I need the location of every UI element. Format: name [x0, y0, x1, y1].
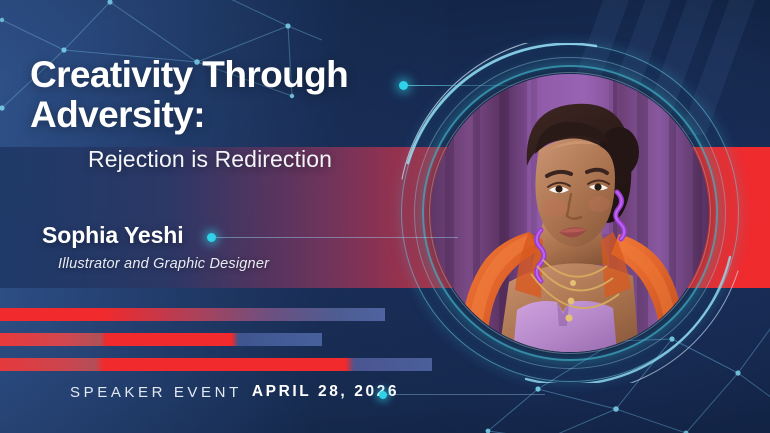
speaker-event-poster: Creativity Through Adversity: Rejection … — [0, 0, 770, 433]
cyan-node-dot-icon — [207, 233, 216, 242]
cyan-node-dot-icon — [399, 81, 408, 90]
footer-label: SPEAKER EVENT — [70, 384, 242, 401]
title-block: Creativity Through Adversity: Rejection … — [30, 55, 430, 173]
footer-block: SPEAKER EVENT APRIL 28, 2026 — [70, 383, 399, 401]
speaker-name: Sophia Yeshi — [42, 222, 269, 249]
page-subtitle: Rejection is Redirection — [30, 146, 430, 173]
decorative-bar-1 — [0, 308, 385, 321]
footer-date: APRIL 28, 2026 — [252, 383, 399, 401]
speaker-pointer-line — [213, 237, 458, 238]
footer-pointer-line — [385, 394, 545, 395]
decorative-bar-2 — [0, 333, 322, 346]
avatar — [431, 74, 709, 352]
title-line-2: Adversity: — [30, 95, 430, 135]
decorative-bar-3 — [0, 358, 432, 371]
page-title: Creativity Through Adversity: — [30, 55, 430, 134]
speaker-block: Sophia Yeshi Illustrator and Graphic Des… — [42, 222, 269, 272]
speaker-role: Illustrator and Graphic Designer — [58, 256, 269, 272]
title-line-1: Creativity Through — [30, 54, 348, 95]
decorative-bars — [0, 308, 460, 383]
cyan-node-dot-icon — [379, 391, 387, 399]
